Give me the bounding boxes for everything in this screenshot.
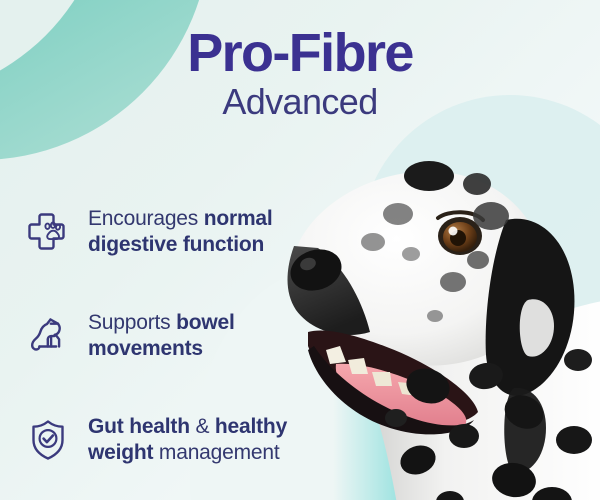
feature-item-bowel: Supports bowel movements — [22, 284, 352, 388]
feature-item-digestive: Encourages normal digestive function — [22, 180, 352, 284]
product-banner: Pro-Fibre Advanced Encourages normal dig… — [0, 0, 600, 500]
shield-check-icon — [22, 414, 74, 466]
feature-text-digestive: Encourages normal digestive function — [88, 206, 352, 258]
feature-lead-1: Encourages — [88, 207, 204, 230]
feature-tail-3: management — [153, 441, 279, 464]
feature-lead-2: Supports — [88, 311, 176, 334]
feature-bold-3a: Gut health — [88, 415, 190, 438]
sitting-dog-icon — [22, 310, 74, 362]
cross-paw-icon — [22, 206, 74, 258]
feature-list: Encourages normal digestive function Sup… — [22, 180, 352, 492]
feature-text-bowel: Supports bowel movements — [88, 310, 352, 362]
feature-item-gut-weight: Gut health & healthy weight management — [22, 388, 352, 492]
feature-mid-3: & — [190, 415, 215, 438]
feature-text-gut-weight: Gut health & healthy weight management — [88, 414, 352, 466]
